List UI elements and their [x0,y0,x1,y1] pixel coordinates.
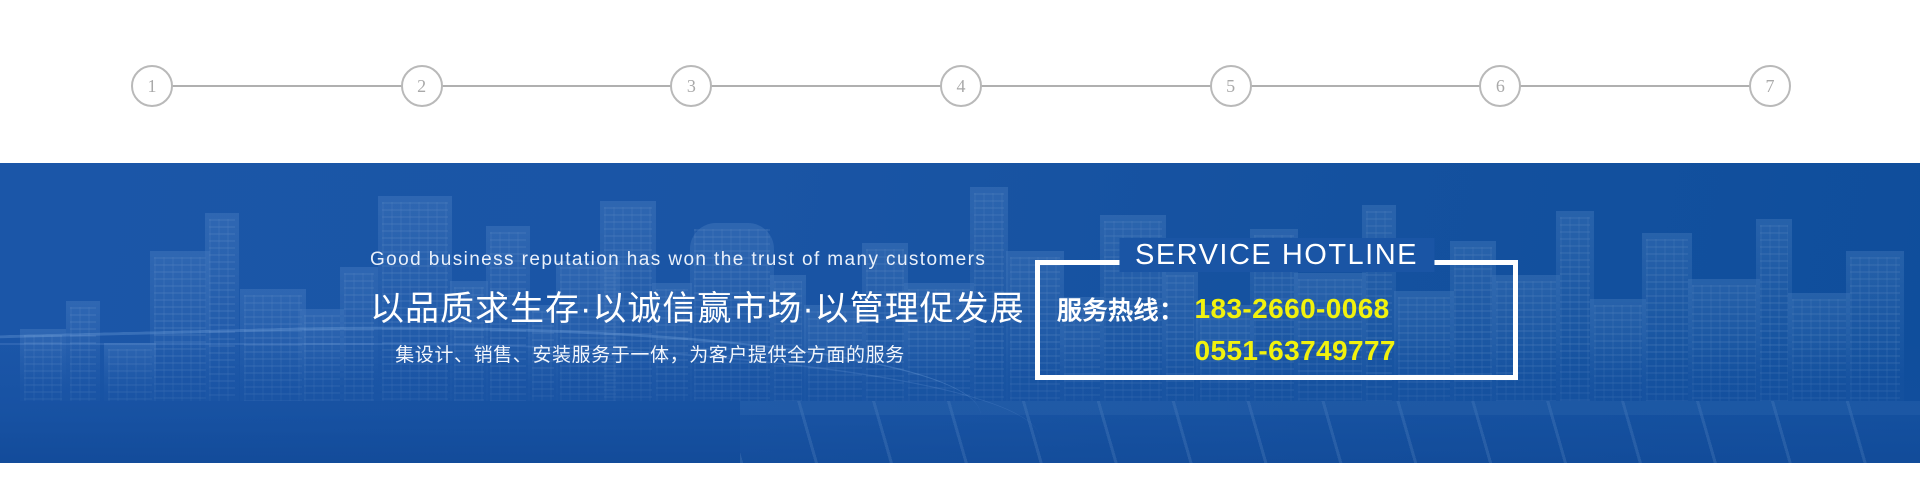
step-label: 2 [417,77,426,95]
step-label: 5 [1226,77,1235,95]
step-node-1[interactable]: 1 [131,65,173,107]
slogan-block: Good business reputation has won the tru… [370,247,930,369]
step-node-5[interactable]: 5 [1210,65,1252,107]
step-node-3[interactable]: 3 [670,65,712,107]
step-node-7[interactable]: 7 [1749,65,1791,107]
blue-banner: Good business reputation has won the tru… [0,163,1920,463]
step-label: 1 [148,77,157,95]
hotline-row-primary: 服务热线： 183-2660-0068 [1057,288,1496,330]
hotline-phone-secondary[interactable]: 0551-63749777 [1195,335,1396,367]
hotline-label: 服务热线： [1057,291,1185,327]
step-rail: 1 2 3 4 5 6 7 [152,65,1770,107]
slogan-chinese-sub: 集设计、销售、安装服务于一体，为客户提供全方面的服务 [370,342,930,369]
step-node-6[interactable]: 6 [1479,65,1521,107]
step-node-4[interactable]: 4 [940,65,982,107]
step-indicator-strip: 1 2 3 4 5 6 7 [0,0,1920,163]
hotline-phone-primary[interactable]: 183-2660-0068 [1195,293,1390,325]
step-node-2[interactable]: 2 [401,65,443,107]
step-label: 7 [1766,77,1775,95]
slogan-english: Good business reputation has won the tru… [370,247,930,273]
step-label: 4 [957,77,966,95]
hotline-row-secondary: 服务热线： 0551-63749777 [1057,330,1496,372]
promo-banner-page: 1 2 3 4 5 6 7 [0,0,1920,500]
step-label: 3 [687,77,696,95]
bridge-railing [740,401,1920,463]
hotline-rows: 服务热线： 183-2660-0068 服务热线： 0551-63749777 [1035,288,1518,372]
service-hotline-box: SERVICE HOTLINE 服务热线： 183-2660-0068 服务热线… [1035,260,1518,380]
slogan-chinese-main: 以品质求生存·以诚信赢市场·以管理促发展 [370,287,930,331]
hotline-title: SERVICE HOTLINE [1119,238,1434,272]
step-label: 6 [1496,77,1505,95]
